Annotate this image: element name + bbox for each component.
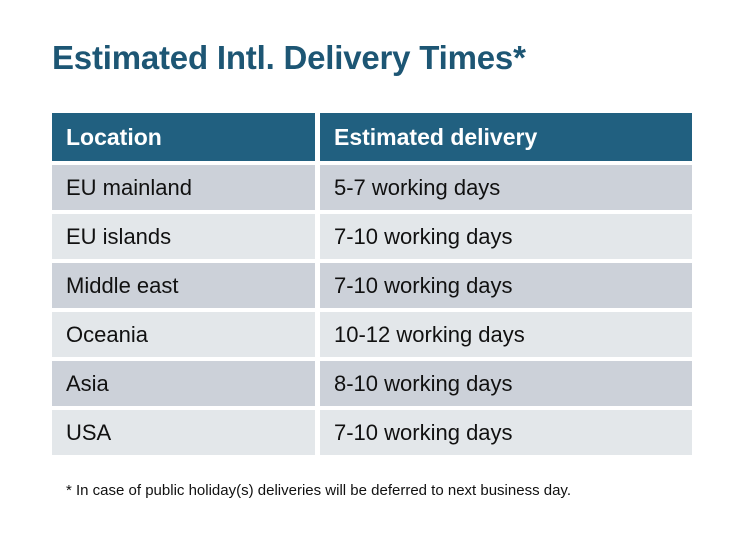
table-row: Oceania 10-12 working days [52, 312, 692, 357]
table-row: Asia 8-10 working days [52, 361, 692, 406]
cell-location: Asia [52, 361, 315, 406]
table-header-row: Location Estimated delivery [52, 113, 692, 161]
page-title: Estimated Intl. Delivery Times* [52, 36, 526, 80]
footnote: * In case of public holiday(s) deliverie… [66, 481, 571, 501]
delivery-times-page: Estimated Intl. Delivery Times* Location… [0, 0, 745, 536]
table-row: EU mainland 5-7 working days [52, 165, 692, 210]
table-row: Middle east 7-10 working days [52, 263, 692, 308]
table-row: EU islands 7-10 working days [52, 214, 692, 259]
cell-location: EU islands [52, 214, 315, 259]
table-header: Location Estimated delivery [52, 113, 692, 161]
cell-delivery: 5-7 working days [320, 165, 692, 210]
cell-delivery: 8-10 working days [320, 361, 692, 406]
cell-location: USA [52, 410, 315, 455]
table-body: EU mainland 5-7 working days EU islands … [52, 165, 692, 455]
cell-delivery: 7-10 working days [320, 214, 692, 259]
cell-location: EU mainland [52, 165, 315, 210]
table-row: USA 7-10 working days [52, 410, 692, 455]
cell-location: Oceania [52, 312, 315, 357]
delivery-times-table: Location Estimated delivery EU mainland … [47, 109, 697, 459]
cell-delivery: 7-10 working days [320, 410, 692, 455]
cell-delivery: 10-12 working days [320, 312, 692, 357]
column-header-location: Location [52, 113, 315, 161]
cell-delivery: 7-10 working days [320, 263, 692, 308]
column-header-delivery: Estimated delivery [320, 113, 692, 161]
cell-location: Middle east [52, 263, 315, 308]
